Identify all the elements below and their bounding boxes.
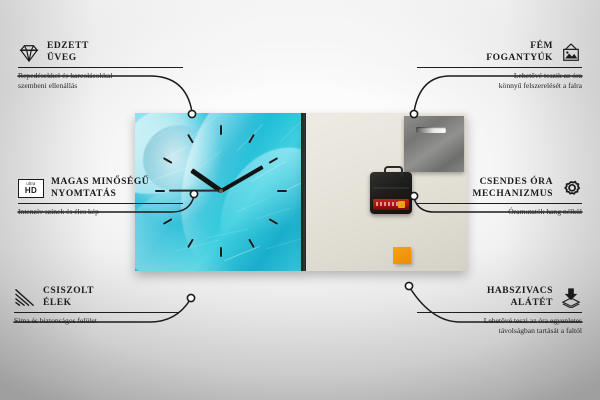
callout-subtitle: Intenzív színek és éles kép: [18, 207, 183, 217]
quiet-clock-mechanism: [370, 172, 412, 214]
metal-hanger-plate: [404, 116, 464, 172]
clock-tick: [248, 133, 255, 143]
clock-tick: [277, 190, 287, 192]
callout-title-line2: MECHANIZMUS: [473, 189, 553, 199]
polished-edges-icon: [14, 288, 36, 308]
callout-subtitle: Sima és biztonságos felület: [14, 316, 179, 326]
callout-title-line1: FÉM: [530, 41, 553, 51]
clock-minute-hand: [220, 165, 263, 192]
battery: [373, 199, 409, 210]
callout-title-line1: CSISZOLT: [43, 286, 94, 296]
callout-title-line1: EDZETT: [47, 41, 89, 51]
callout-title: MAGAS MINŐSÉGŰNYOMTATÁS: [51, 177, 149, 200]
callout-title: CSISZOLTÉLEK: [43, 286, 94, 309]
callout-title-line2: ALÁTÉT: [511, 298, 553, 308]
callout-rule: [417, 67, 582, 68]
callout-rule: [18, 67, 183, 68]
callout-subtitle-line1: Repedésekkel és karcolásokkal: [18, 71, 112, 80]
callout-rule: [14, 312, 179, 313]
callout-subtitle-line2: távolságban tartását a faltól: [499, 326, 582, 335]
callout-title-line2: ÜVEG: [47, 53, 77, 63]
clock-tick: [163, 157, 173, 164]
diamond-icon: [18, 43, 40, 63]
callout-rule: [417, 312, 582, 313]
callout-title-line2: NYOMTATÁS: [51, 189, 116, 199]
callout-header: EDZETTÜVEG: [18, 41, 183, 64]
callout-title: EDZETTÜVEG: [47, 41, 89, 64]
callout-title: FÉMFOGANTYÚK: [486, 41, 553, 64]
callout-subtitle-line1: Sima és biztonságos felület: [14, 316, 97, 325]
gear-icon: [560, 179, 582, 199]
infographic-canvas: EDZETTÜVEG Repedésekkel és karcolásokkal…: [0, 0, 600, 400]
callout-foam-spacer[interactable]: HABSZIVACSALÁTÉT Lehetővé teszi az óra e…: [417, 286, 582, 335]
callout-header: ultra HD MAGAS MINŐSÉGŰNYOMTATÁS: [18, 177, 183, 200]
callout-polished-edges[interactable]: CSISZOLTÉLEK Sima és biztonságos felület: [14, 286, 179, 326]
clock-tick: [220, 125, 222, 135]
callout-subtitle-line2: könnyű felszerelését a falra: [499, 81, 582, 90]
callout-header: CSENDES ÓRAMECHANIZMUS: [417, 177, 582, 200]
callout-subtitle: Repedésekkel és karcolásokkalszembeni el…: [18, 71, 183, 90]
clock-tick: [187, 133, 194, 143]
callout-title-line1: CSENDES ÓRA: [480, 177, 553, 187]
callout-subtitle: Lehetővé teszik az órakönnyű felszerelés…: [417, 71, 582, 90]
ultra-hd-big-text: HD: [25, 187, 37, 195]
callout-subtitle-line1: Lehetővé teszik az óra: [514, 71, 582, 80]
clock-tick: [220, 247, 222, 257]
mechanism-seam: [373, 187, 409, 189]
callout-rule: [417, 203, 582, 204]
callout-title: CSENDES ÓRAMECHANIZMUS: [473, 177, 553, 200]
battery-plus-terminal: [398, 201, 405, 208]
callout-tempered-glass[interactable]: EDZETTÜVEG Repedésekkel és karcolásokkal…: [18, 41, 183, 90]
clock-tick: [248, 239, 255, 249]
press-pad-icon: [560, 288, 582, 308]
callout-subtitle-line1: Óramutatók hang nélkül: [508, 207, 582, 216]
foam-spacer-pad: [393, 247, 411, 264]
callout-header: FÉMFOGANTYÚK: [417, 41, 582, 64]
hanger-slot: [416, 127, 446, 133]
callout-title-line2: FOGANTYÚK: [486, 53, 553, 63]
callout-metal-hooks[interactable]: FÉMFOGANTYÚK Lehetővé teszik az órakönny…: [417, 41, 582, 90]
callout-header: HABSZIVACSALÁTÉT: [417, 286, 582, 309]
callout-title: HABSZIVACSALÁTÉT: [487, 286, 553, 309]
callout-rule: [18, 203, 183, 204]
callout-subtitle: Lehetővé teszi az óra egyenletestávolság…: [417, 316, 582, 335]
callout-title-line2: ÉLEK: [43, 298, 72, 308]
battery-label: [376, 202, 398, 206]
callout-subtitle: Óramutatók hang nélkül: [417, 207, 582, 217]
mechanism-hanging-loop: [384, 166, 403, 177]
callout-title-line1: MAGAS MINŐSÉGŰ: [51, 177, 149, 187]
ultra-hd-icon: ultra HD: [18, 179, 44, 198]
callout-title-line1: HABSZIVACS: [487, 286, 553, 296]
callout-high-quality-print[interactable]: ultra HD MAGAS MINŐSÉGŰNYOMTATÁS Intenzí…: [18, 177, 183, 217]
clock-tick: [187, 239, 194, 249]
callout-subtitle-line1: Lehetővé teszi az óra egyenletes: [484, 316, 582, 325]
clock-tick: [268, 218, 278, 225]
clock-tick: [268, 157, 278, 164]
callout-silent-mechanism[interactable]: CSENDES ÓRAMECHANIZMUS Óramutatók hang n…: [417, 177, 582, 217]
callout-subtitle-line1: Intenzív színek és éles kép: [18, 207, 99, 216]
clock-tick: [163, 218, 173, 225]
clock-center-pivot: [219, 189, 223, 193]
picture-hanger-icon: [560, 43, 582, 63]
callout-subtitle-line2: szembeni ellenállás: [18, 81, 77, 90]
callout-header: CSISZOLTÉLEK: [14, 286, 179, 309]
